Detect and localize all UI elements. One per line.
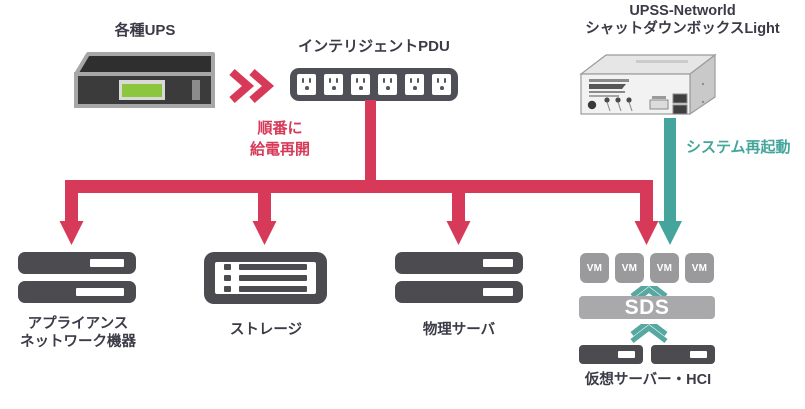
pdu-outlet-icon (297, 74, 316, 95)
annotation-system-restart: システム再起動 (686, 139, 805, 157)
vm-tile: VM (650, 253, 679, 283)
label-ups: 各種UPS (60, 22, 230, 40)
pdu-outlet-icon (378, 74, 397, 95)
target-label-physical-server: 物理サーバ (397, 322, 521, 340)
vm-tile: VM (580, 253, 609, 283)
server-unit (18, 252, 136, 274)
target-label-storage: ストレージ (205, 322, 327, 340)
target-label-appliance: アプライアンス ネットワーク機器 (4, 316, 152, 351)
server-unit (395, 281, 523, 303)
vm-tile: VM (685, 253, 714, 283)
label-pdu: インテリジェントPDU (279, 38, 469, 56)
annotation-power-restore-line1: 順番に (225, 120, 335, 138)
diagram-canvas: 各種UPS インテリジェントPDU UPSS-Networld シャットダウンボ… (0, 0, 805, 409)
pdu-outlet-icon (405, 74, 424, 95)
server-unit (395, 252, 523, 274)
chevron-up-icon (628, 324, 670, 344)
annotation-power-restore-line2: 給電再開 (225, 141, 335, 159)
label-shutdown-box-line2: シャットダウンボックスLight (560, 21, 805, 39)
sds-layer: SDS (579, 296, 715, 319)
server-stack-icon (18, 252, 136, 304)
label-shutdown-box-line1: UPSS-Networld (565, 3, 800, 21)
pdu-outlet-icon (432, 74, 451, 95)
target-label-virtual-hci: 仮想サーバー・HCI (570, 372, 726, 390)
storage-array-icon (204, 252, 327, 304)
pdu-outlet-icon (351, 74, 370, 95)
hci-node (579, 345, 643, 364)
hci-node (651, 345, 715, 364)
server-unit (18, 281, 136, 303)
vm-tile: VM (615, 253, 644, 283)
pdu-outlet-icon (324, 74, 343, 95)
physical-server-icon (395, 252, 523, 304)
